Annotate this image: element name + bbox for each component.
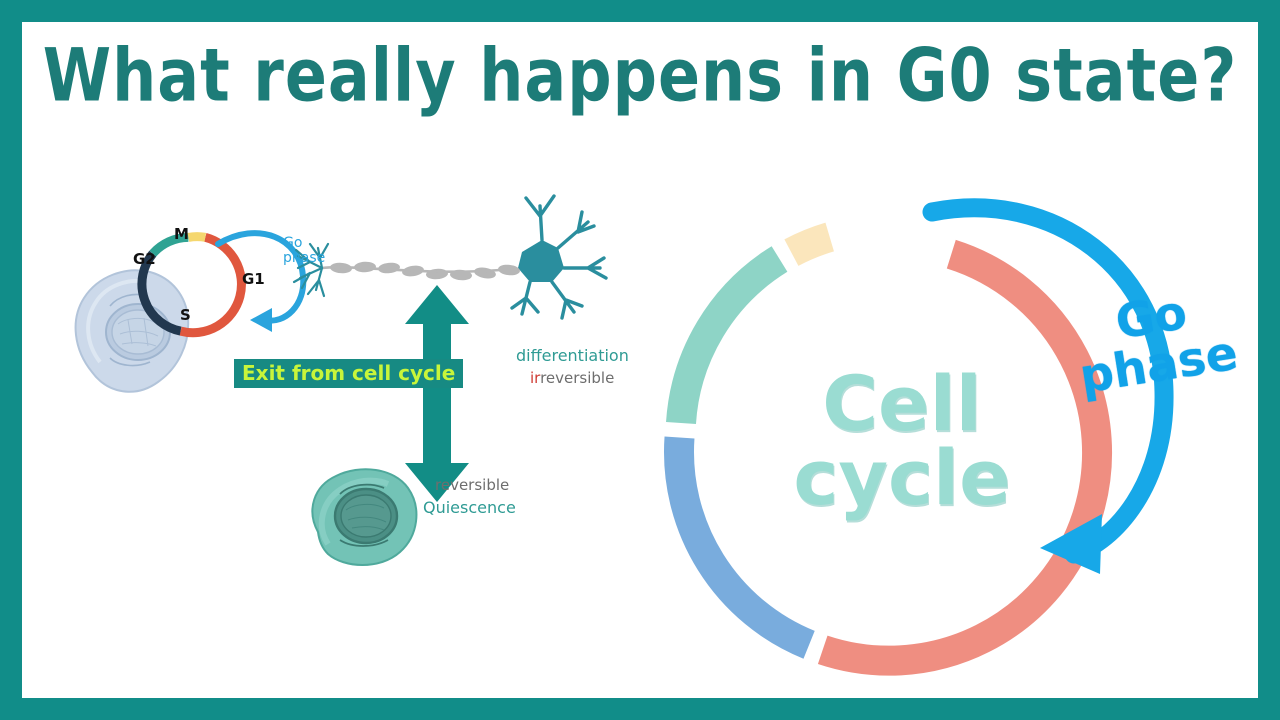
cell-cycle-center-label: Cell cycle xyxy=(722,367,1082,516)
small-ring-label-g2: G2 xyxy=(133,250,156,268)
exit-from-cell-cycle-banner: Exit from cell cycle xyxy=(234,359,463,388)
small-g0-label-line1: Go xyxy=(283,236,325,251)
reversible-caption: reversible xyxy=(435,476,509,494)
small-g0-label-line2: phase xyxy=(283,251,325,266)
small-ring-label-s: S xyxy=(180,306,191,324)
small-ring-label-g1: G1 xyxy=(242,270,265,288)
exit-double-arrow xyxy=(405,285,469,502)
ring-segment-m xyxy=(791,237,829,253)
neuron-illustration xyxy=(294,196,606,318)
slide-canvas: What really happens in G0 state? xyxy=(22,22,1258,698)
quiescent-cell-illustration xyxy=(312,469,416,565)
screenshot-root: What really happens in G0 state? xyxy=(0,0,1280,720)
irreversible-prefix: ir xyxy=(530,369,540,387)
small-ring-label-m: M xyxy=(174,225,189,243)
quiescence-caption: Quiescence xyxy=(423,498,516,517)
page-title: What really happens in G0 state? xyxy=(22,32,1258,118)
cell-cycle-line2: cycle xyxy=(722,441,1082,515)
small-g0-label: Go phase xyxy=(283,236,325,265)
